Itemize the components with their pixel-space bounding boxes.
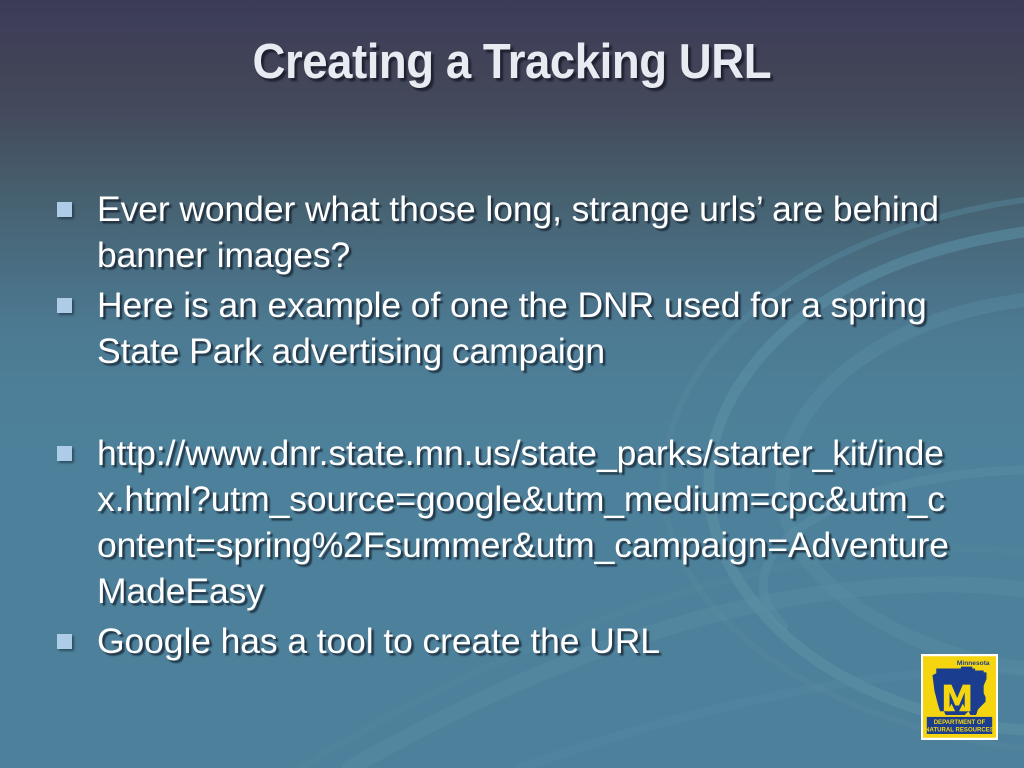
- list-item: http://www.dnr.state.mn.us/state_parks/s…: [57, 430, 957, 614]
- list-item: Ever wonder what those long, strange url…: [57, 186, 957, 278]
- logo-line1: DEPARTMENT OF: [934, 720, 986, 726]
- bullet-square-icon: [57, 202, 72, 217]
- list-item: Google has a tool to create the URL: [57, 618, 957, 664]
- list-item-text: Google has a tool to create the URL: [97, 618, 957, 664]
- tracking-url-text: http://www.dnr.state.mn.us/state_parks/s…: [97, 430, 957, 614]
- logo-state-label: Minnesota: [957, 660, 990, 667]
- page-title: Creating a Tracking URL: [253, 34, 772, 90]
- minnesota-dnr-logo: Minnesota DEPARTMENT OF NATURAL RESOURCE…: [921, 654, 998, 740]
- bullet-list: Ever wonder what those long, strange url…: [57, 186, 957, 668]
- list-item-text: Here is an example of one the DNR used f…: [97, 282, 957, 374]
- list-item: Here is an example of one the DNR used f…: [57, 282, 957, 374]
- list-item-text: Ever wonder what those long, strange url…: [97, 186, 957, 278]
- slide: Creating a Tracking URL Ever wonder what…: [0, 0, 1024, 768]
- title-area: Creating a Tracking URL: [0, 34, 1024, 90]
- bullet-square-icon: [57, 634, 72, 649]
- logo-line2: NATURAL RESOURCES: [925, 728, 994, 734]
- bullet-square-icon: [57, 298, 72, 313]
- bullet-square-icon: [57, 446, 72, 461]
